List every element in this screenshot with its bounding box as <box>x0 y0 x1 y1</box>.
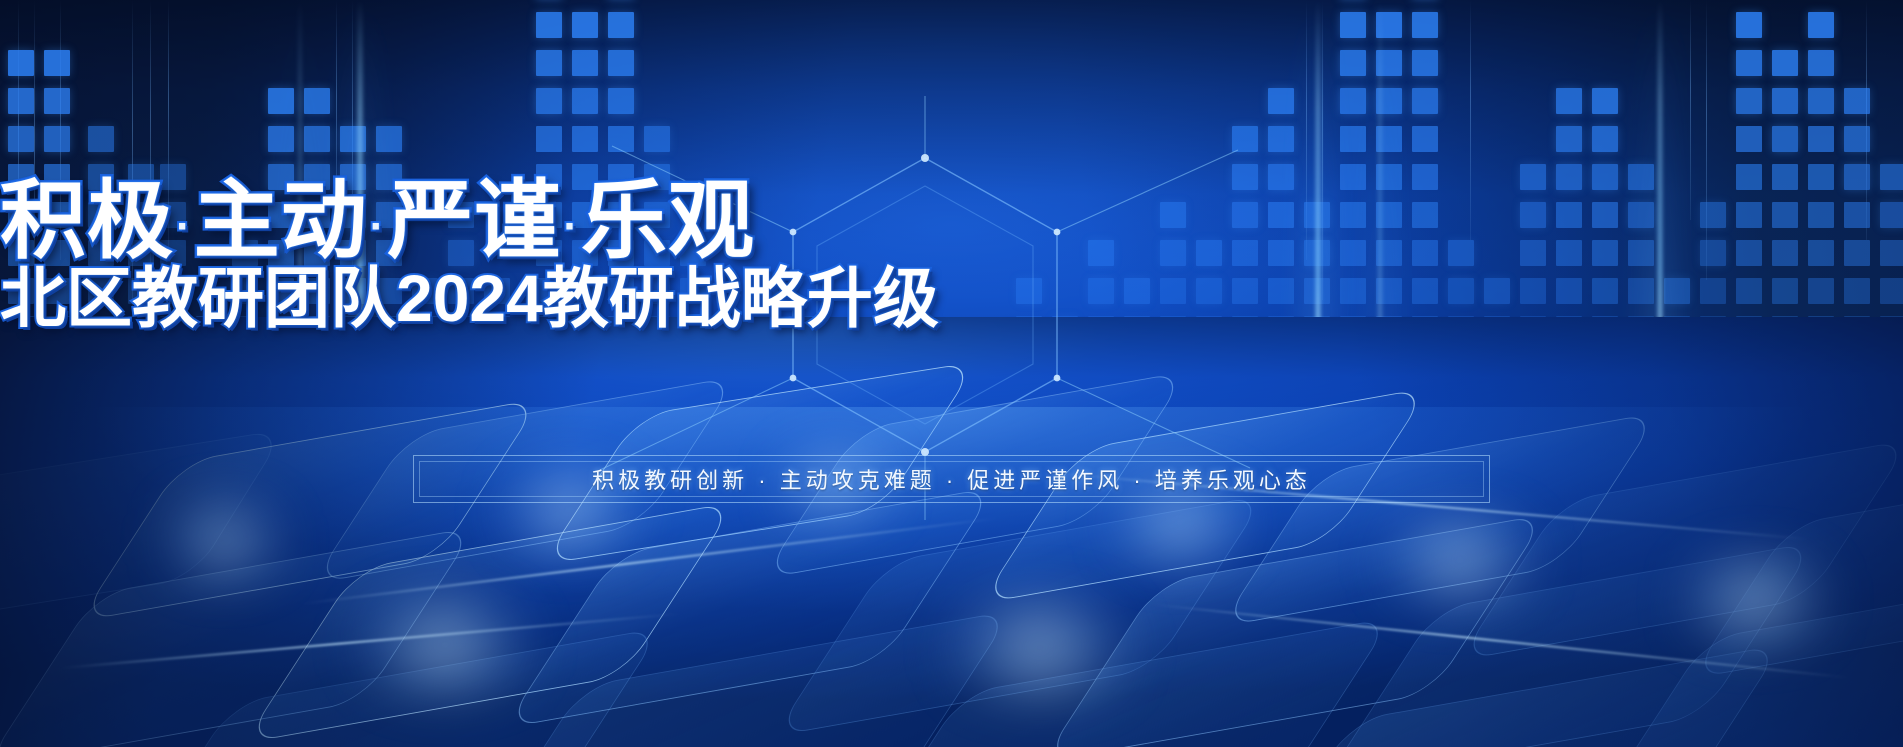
block-cell <box>376 126 402 152</box>
block-cell <box>1592 88 1618 114</box>
block-cell <box>1736 126 1762 152</box>
block-cell <box>608 88 634 114</box>
title-word-2: 主动 <box>194 173 368 269</box>
title-word-4: 乐观 <box>581 173 755 269</box>
block-cell <box>268 126 294 152</box>
block-cell <box>1376 126 1402 152</box>
title-separator-1: · <box>176 202 192 251</box>
block-cell <box>1268 126 1294 152</box>
block-cell <box>304 88 330 114</box>
block-cell <box>1556 126 1582 152</box>
block-cell <box>8 126 34 152</box>
block-cell <box>572 50 598 76</box>
block-cell <box>1808 126 1834 152</box>
block-cell <box>1412 126 1438 152</box>
block-cell <box>1340 126 1366 152</box>
block-cell <box>1376 50 1402 76</box>
block-cell <box>1592 126 1618 152</box>
block-cell <box>572 126 598 152</box>
block-cell <box>1844 126 1870 152</box>
block-cell <box>608 126 634 152</box>
block-cell <box>1340 50 1366 76</box>
block-cell <box>268 88 294 114</box>
block-cell <box>1376 12 1402 38</box>
block-cell <box>1736 88 1762 114</box>
block-cell <box>1340 12 1366 38</box>
block-cell <box>1556 88 1582 114</box>
block-cell <box>1772 126 1798 152</box>
block-cell <box>88 126 114 152</box>
block-cell <box>536 88 562 114</box>
block-cell <box>1772 88 1798 114</box>
block-cell <box>572 12 598 38</box>
title-word-1: 积极 <box>0 173 174 269</box>
title-separator-2: · <box>370 202 386 251</box>
block-cell <box>1376 88 1402 114</box>
tagline: 积极教研创新 · 主动攻克难题 · 促进严谨作风 · 培养乐观心态 <box>413 455 1490 503</box>
block-cell <box>536 50 562 76</box>
block-cell <box>340 126 366 152</box>
block-cell <box>608 50 634 76</box>
block-cell <box>44 50 70 76</box>
block-cell <box>608 12 634 38</box>
title-separator-3: · <box>563 202 579 251</box>
block-cell <box>1232 126 1258 152</box>
block-cell <box>1412 88 1438 114</box>
block-cell <box>644 126 670 152</box>
block-cell <box>1808 12 1834 38</box>
title-word-3: 严谨 <box>387 173 561 269</box>
title-main: 积极·主动·严谨·乐观 <box>0 178 1903 264</box>
title-subtitle: 北区教研团队2024教研战略升级 <box>0 265 1903 331</box>
block-cell <box>304 126 330 152</box>
block-cell <box>8 88 34 114</box>
block-cell <box>1736 50 1762 76</box>
banner-root: 积极·主动·严谨·乐观 北区教研团队2024教研战略升级 积极教研创新 · 主动… <box>0 0 1903 747</box>
block-cell <box>1736 12 1762 38</box>
block-cell <box>1340 88 1366 114</box>
block-cell <box>536 126 562 152</box>
block-cell <box>1268 88 1294 114</box>
block-cell <box>536 12 562 38</box>
block-cell <box>1844 88 1870 114</box>
block-cell <box>1808 50 1834 76</box>
block-cell <box>1808 88 1834 114</box>
block-cell <box>44 126 70 152</box>
block-cell <box>8 50 34 76</box>
block-cell <box>1412 50 1438 76</box>
block-cell <box>1772 50 1798 76</box>
block-cell <box>1412 12 1438 38</box>
block-cell <box>572 88 598 114</box>
block-cell <box>44 88 70 114</box>
